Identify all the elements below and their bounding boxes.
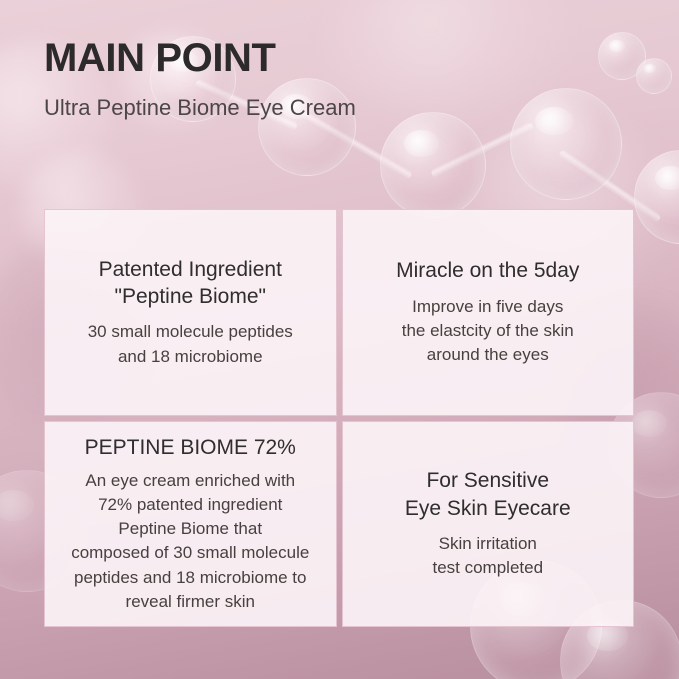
- molecule-sphere: [380, 112, 486, 218]
- feature-card-sensitive-eyecare: For Sensitive Eye Skin Eyecare Skin irri…: [342, 421, 635, 628]
- card-title: Miracle on the 5day: [396, 257, 579, 284]
- card-title: For Sensitive Eye Skin Eyecare: [405, 467, 571, 522]
- page-title: MAIN POINT: [44, 38, 356, 78]
- card-body: 30 small molecule peptides and 18 microb…: [88, 320, 293, 368]
- header-block: MAIN POINT Ultra Peptine Biome Eye Cream: [44, 38, 356, 123]
- card-body: Improve in five days the elastcity of th…: [402, 295, 574, 367]
- molecule-sphere: [510, 88, 622, 200]
- product-detail-image: MAIN POINT Ultra Peptine Biome Eye Cream…: [0, 0, 679, 679]
- card-title: PEPTINE BIOME 72%: [85, 434, 296, 461]
- page-subtitle: Ultra Peptine Biome Eye Cream: [44, 92, 356, 123]
- card-title: Patented Ingredient "Peptine Biome": [99, 256, 282, 311]
- feature-card-patented-ingredient: Patented Ingredient "Peptine Biome" 30 s…: [44, 209, 337, 416]
- card-body: An eye cream enriched with 72% patented …: [71, 469, 309, 614]
- feature-card-miracle-5day: Miracle on the 5day Improve in five days…: [342, 209, 635, 416]
- feature-card-peptine-biome-72: PEPTINE BIOME 72% An eye cream enriched …: [44, 421, 337, 628]
- molecule-droplet: [636, 58, 672, 94]
- card-body: Skin irritation test completed: [432, 532, 543, 580]
- feature-card-grid: Patented Ingredient "Peptine Biome" 30 s…: [44, 209, 634, 627]
